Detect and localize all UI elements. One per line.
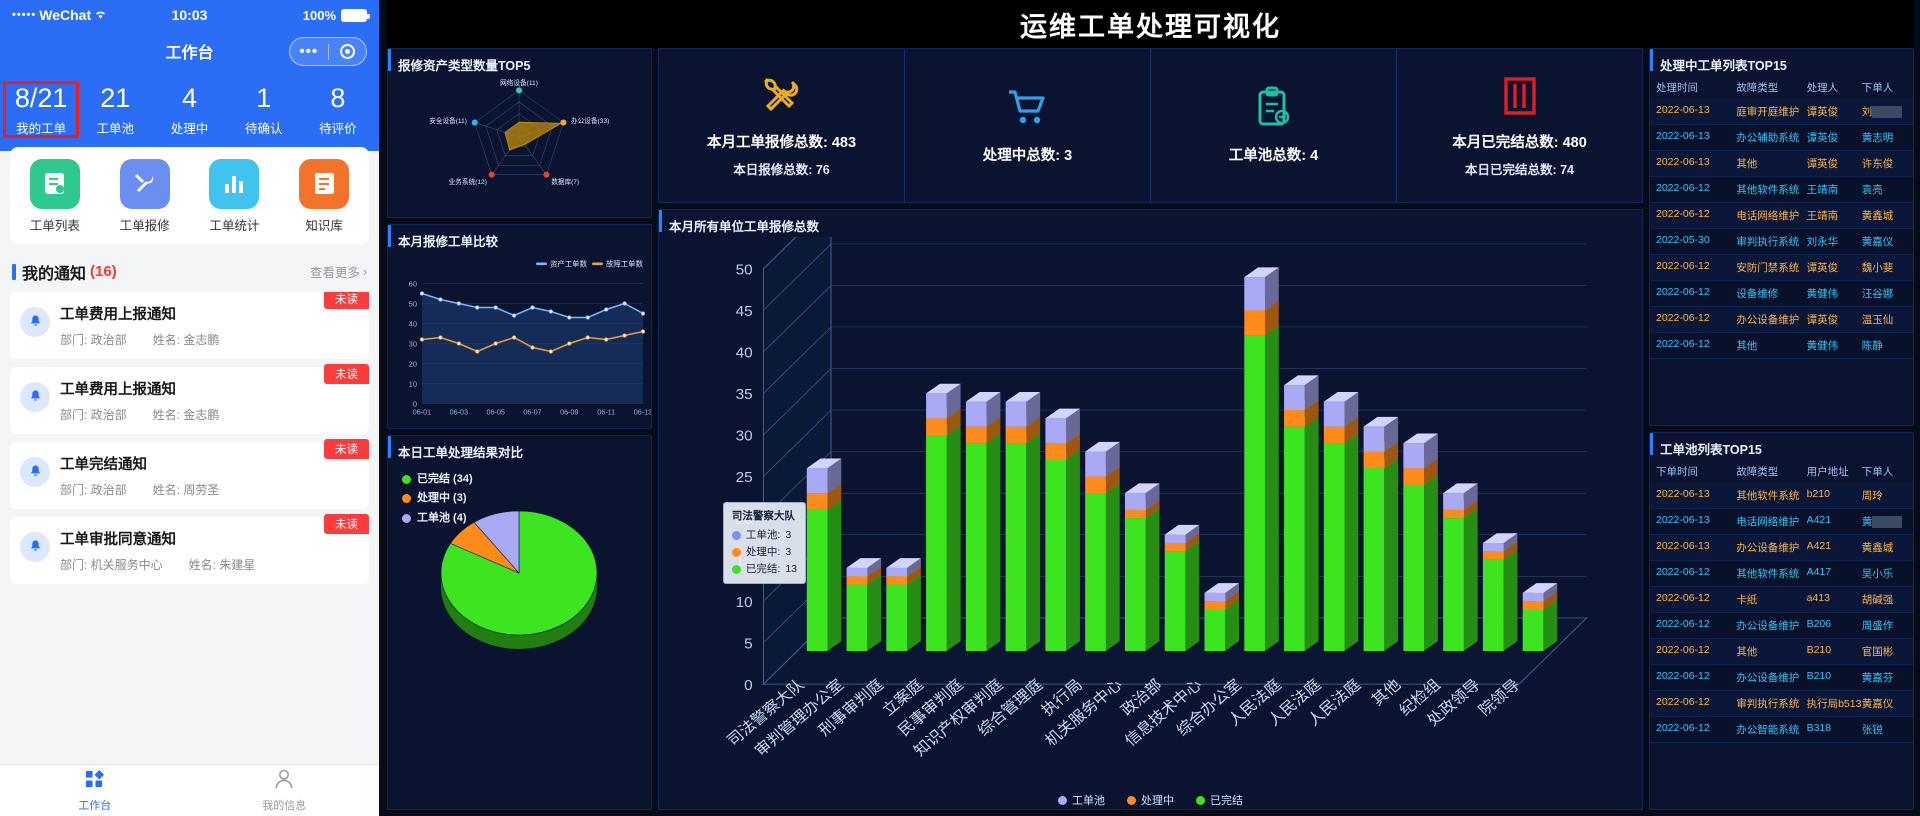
svg-text:06-13: 06-13 [634, 408, 651, 417]
tooltip-row: 已完结:13 [732, 561, 797, 578]
quick-action-3[interactable]: 知识库 [279, 159, 369, 234]
pool-cell: 办公设备维护 [1736, 540, 1806, 555]
processing-cell: 2022-06-12 [1656, 182, 1736, 197]
kpi-card-2: 工单池总数: 4 [1151, 49, 1397, 202]
notice-meta: 部门: 政治部姓名: 周劳圣 [60, 481, 359, 498]
svg-text:20: 20 [409, 360, 417, 369]
table-row[interactable]: 2022-06-12其他黄健伟陈静 [1650, 333, 1913, 359]
wifi-icon [94, 7, 107, 23]
kpi-primary-value: 本月工单报修总数: 483 [707, 131, 856, 152]
notice-item[interactable]: 工单费用上报通知部门: 政治部姓名: 金志鹏未读 [10, 292, 369, 359]
pie-legend-item[interactable]: 处理中 (3) [402, 489, 473, 508]
bell-icon [20, 457, 50, 487]
pool-cell: B318 [1807, 722, 1862, 737]
pool-cell: 2022-06-12 [1656, 670, 1736, 685]
notice-dept: 部门: 政治部 [60, 406, 127, 423]
processing-cell: 谭英俊 [1807, 156, 1862, 171]
pool-column-header: 故障类型 [1736, 464, 1806, 479]
quick-action-label: 工单列表 [30, 215, 80, 234]
table-row[interactable]: 2022-06-13办公设备维护A421黄鑫城 [1650, 535, 1913, 561]
table-row[interactable]: 2022-06-12审判执行系统执行局b513黄嘉仪 [1650, 691, 1913, 717]
kpi-summary-row: 本月工单报修总数: 483本日报修总数: 76处理中总数: 3工单池总数: 4本… [658, 48, 1643, 203]
processing-cell: 安防门禁系统 [1736, 260, 1806, 275]
table-row[interactable]: 2022-06-12办公设备维护谭英俊温玉仙 [1650, 307, 1913, 333]
notice-section-title: 我的通知 [22, 260, 86, 284]
notice-item[interactable]: 工单费用上报通知部门: 政治部姓名: 金志鹏未读 [10, 367, 369, 434]
processing-cell: 审判执行系统 [1736, 234, 1806, 249]
legend-swatch [402, 494, 411, 503]
quick-action-1[interactable]: 工单报修 [100, 159, 190, 234]
processing-cell: 庭审开庭维护 [1736, 104, 1806, 119]
bar-chart-legend: 工单池处理中已完结 [659, 788, 1642, 810]
pool-cell: b210 [1807, 488, 1862, 503]
table-row[interactable]: 2022-06-12其他软件系统A417吴小乐 [1650, 561, 1913, 587]
bar-legend-item[interactable]: 工单池 [1058, 792, 1105, 808]
legend-label: 处理中 (3) [417, 489, 467, 508]
pool-table-header: 下单时间故障类型用户地址下单人 [1650, 460, 1913, 483]
processing-cell: 黄鑫城 [1862, 208, 1907, 223]
processing-cell: 谭英俊 [1807, 130, 1862, 145]
processing-orders-table-card: 处理中工单列表TOP15 处理时间故障类型处理人下单人 2022-06-13庭审… [1649, 48, 1914, 426]
carrier-label: WeChat [39, 7, 91, 23]
shopping-cart-icon [1005, 86, 1051, 137]
quick-action-2[interactable]: 工单统计 [190, 159, 280, 234]
pool-column-header: 下单人 [1862, 464, 1907, 479]
bell-icon [20, 382, 50, 412]
stat-value: 1 [227, 82, 301, 116]
processing-column-header: 故障类型 [1736, 80, 1806, 95]
svg-text:06-01: 06-01 [413, 408, 431, 417]
pool-cell: 其他 [1736, 644, 1806, 659]
svg-text:资产工单数: 资产工单数 [550, 260, 588, 269]
stat-value: 21 [78, 82, 152, 116]
pool-cell: 2022-06-12 [1656, 722, 1736, 737]
stat-label: 待确认 [227, 118, 301, 137]
trash-bin-icon [1497, 73, 1543, 124]
notice-meta: 部门: 政治部姓名: 金志鹏 [60, 406, 359, 423]
processing-column-header: 下单人 [1862, 80, 1907, 95]
tooltip-label: 工单池: [746, 527, 780, 544]
pool-cell: 周盛作 [1862, 618, 1907, 633]
notice-text: 工单完结通知部门: 政治部姓名: 周劳圣 [60, 453, 359, 498]
tab-user-person[interactable]: 我的信息 [190, 765, 380, 816]
pie-chart-card: 本日工单处理结果对比 已完结 (34)处理中 (3)工单池 (4) [387, 435, 652, 810]
svg-text:10: 10 [736, 595, 753, 610]
quick-action-label: 知识库 [305, 215, 343, 234]
pool-cell: a413 [1807, 592, 1862, 607]
kpi-secondary-value: 本日已完结总数: 74 [1465, 159, 1574, 178]
pool-cell: 2022-06-13 [1656, 514, 1736, 529]
legend-swatch [1196, 796, 1205, 805]
processing-cell: 黄志明 [1862, 130, 1907, 145]
view-more-link[interactable]: 查看更多 › [310, 262, 367, 281]
pool-cell: A417 [1807, 566, 1862, 581]
table-row[interactable]: 2022-06-13办公辅助系统谭英俊黄志明 [1650, 125, 1913, 151]
svg-text:5: 5 [744, 637, 753, 652]
processing-cell: 其他 [1736, 156, 1806, 171]
table-row[interactable]: 2022-06-12其他软件系统王靖南袁亮 [1650, 177, 1913, 203]
table-row[interactable]: 2022-06-12办公设备维护B206周盛作 [1650, 613, 1913, 639]
radar-chart-svg: 网络设备(11)办公设备(33)数据库(7)业务系统(12)安全设备(11) [388, 76, 651, 206]
svg-text:30: 30 [736, 429, 753, 444]
processing-cell: 袁亮 [1862, 182, 1907, 197]
bell-icon [20, 532, 50, 562]
pool-cell: 胡碱强 [1862, 592, 1907, 607]
svg-text:50: 50 [736, 263, 753, 278]
svg-text:50: 50 [409, 300, 417, 309]
wechat-capsule-menu[interactable]: ••• [289, 37, 367, 66]
bar-chart-card: 本月所有单位工单报修总数 05101520253035404550司法警察大队审… [658, 209, 1643, 810]
status-bar-right: 100% [207, 8, 367, 23]
table-row[interactable]: 2022-05-30审判执行系统刘永华黄嘉仪 [1650, 229, 1913, 255]
stat-3[interactable]: 1待确认 [227, 82, 301, 137]
processing-cell: 2022-05-30 [1656, 234, 1736, 249]
status-bar-left: ••••• WeChat [12, 7, 172, 23]
tab-label: 工作台 [78, 797, 111, 813]
redacted-text: ████ [1872, 516, 1902, 528]
svg-text:06-03: 06-03 [450, 408, 468, 417]
processing-cell: 谭英俊 [1807, 260, 1862, 275]
pool-cell: 2022-06-12 [1656, 592, 1736, 607]
processing-cell: 2022-06-13 [1656, 104, 1736, 119]
processing-cell: 王靖南 [1807, 182, 1862, 197]
notice-title: 工单完结通知 [60, 453, 359, 474]
pool-cell: 黄████ [1862, 514, 1907, 529]
pool-cell: 官国彬 [1862, 644, 1907, 659]
pool-cell: 2022-06-12 [1656, 618, 1736, 633]
pool-cell: 2022-06-12 [1656, 566, 1736, 581]
legend-swatch [1058, 796, 1067, 805]
legend-label: 工单池 (4) [417, 509, 467, 528]
app-root: ••••• WeChat 10:03 100% 工作台 ••• 8/21我的工单… [0, 0, 1920, 816]
pool-orders-table-card: 工单池列表TOP15 下单时间故障类型用户地址下单人 2022-06-13其他软… [1649, 432, 1914, 810]
tooltip-value: 3 [785, 527, 791, 544]
notice-count-badge: (16) [90, 263, 117, 280]
svg-text:10: 10 [409, 380, 417, 389]
svg-text:数据库(7): 数据库(7) [551, 177, 579, 186]
stat-0[interactable]: 8/21我的工单 [4, 82, 78, 137]
svg-text:25: 25 [736, 471, 753, 486]
dashboard-center-column: 本月工单报修总数: 483本日报修总数: 76处理中总数: 3工单池总数: 4本… [658, 48, 1643, 810]
radar-chart-title: 报修资产类型数量TOP5 [388, 49, 651, 76]
stat-value: 8 [301, 82, 375, 116]
table-row[interactable]: 2022-06-13其他谭英俊许东俊 [1650, 151, 1913, 177]
pool-cell: 审判执行系统 [1736, 696, 1806, 711]
processing-cell: 许东俊 [1862, 156, 1907, 171]
svg-text:业务系统(12): 业务系统(12) [449, 177, 487, 186]
bar-chart-svg: 05101520253035404550司法警察大队审判管理办公室刑事审判庭立案… [659, 237, 1642, 810]
dashboard-body: 报修资产类型数量TOP5 网络设备(11)办公设备(33)数据库(7)业务系统(… [387, 48, 1914, 810]
document-list-icon [30, 159, 80, 209]
wrench-tools-icon [759, 73, 805, 124]
pool-cell: 办公设备维护 [1736, 618, 1806, 633]
notice-title: 工单费用上报通知 [60, 303, 359, 324]
svg-text:06-09: 06-09 [560, 408, 578, 417]
unread-badge: 未读 [324, 514, 369, 534]
stat-value: 4 [152, 82, 226, 116]
svg-text:45: 45 [736, 304, 753, 319]
notice-text: 工单费用上报通知部门: 政治部姓名: 金志鹏 [60, 303, 359, 348]
legend-swatch [1127, 796, 1136, 805]
svg-text:0: 0 [744, 678, 753, 693]
processing-cell: 黄健伟 [1807, 338, 1862, 353]
unread-badge: 未读 [324, 439, 369, 459]
tab-label: 我的信息 [262, 797, 306, 813]
pool-cell: 黄鑫城 [1862, 540, 1907, 555]
quick-action-0[interactable]: 工单列表 [10, 159, 100, 234]
pool-cell: 张锐 [1862, 722, 1907, 737]
kpi-primary-value: 本月已完结总数: 480 [1452, 131, 1587, 152]
pool-table-title: 工单池列表TOP15 [1650, 433, 1913, 460]
phone-status-bar: ••••• WeChat 10:03 100% [0, 0, 379, 30]
table-row[interactable]: 2022-06-12其他B210官国彬 [1650, 639, 1913, 665]
unread-badge: 未读 [324, 364, 369, 384]
table-row[interactable]: 2022-06-13其他软件系统b210周玲 [1650, 483, 1913, 509]
bar-chart-icon [209, 159, 259, 209]
pool-cell: 执行局b513 [1807, 696, 1862, 711]
pool-column-header: 用户地址 [1807, 464, 1862, 479]
pool-cell: B210 [1807, 670, 1862, 685]
svg-text:安全设备(11): 安全设备(11) [429, 116, 467, 125]
bar-legend-item[interactable]: 已完结 [1196, 792, 1243, 808]
processing-cell: 电话网络维护 [1736, 208, 1806, 223]
pie-chart-title: 本日工单处理结果对比 [388, 436, 651, 463]
tooltip-label: 处理中: [746, 544, 780, 561]
processing-cell: 王靖南 [1807, 208, 1862, 223]
status-bar-time: 10:03 [172, 7, 208, 23]
pool-cell: 2022-06-13 [1656, 540, 1736, 555]
tab-grid-blocks[interactable]: 工作台 [0, 765, 190, 816]
user-person-icon [274, 769, 295, 795]
kpi-primary-value: 工单池总数: 4 [1229, 144, 1318, 165]
kpi-card-1: 处理中总数: 3 [905, 49, 1151, 202]
legend-label: 处理中 [1141, 792, 1174, 808]
tooltip-label: 已完结: [746, 561, 780, 578]
phone-tab-bar[interactable]: 工作台我的信息 [0, 764, 379, 816]
line-chart-card: 本月报修工单比较 010203040506006-0106-0306-0506-… [387, 224, 652, 429]
notice-name: 姓名: 周劳圣 [153, 481, 220, 498]
svg-text:06-05: 06-05 [486, 408, 504, 417]
notice-dept: 部门: 政治部 [60, 331, 127, 348]
legend-swatch [402, 475, 411, 484]
processing-cell: 刘████ [1862, 104, 1907, 119]
pool-cell: 吴小乐 [1862, 566, 1907, 581]
tooltip-swatch [732, 565, 741, 574]
stat-4[interactable]: 8待评价 [301, 82, 375, 137]
bar-legend-item[interactable]: 处理中 [1127, 792, 1174, 808]
processing-cell: 谭英俊 [1807, 104, 1862, 119]
svg-text:40: 40 [736, 346, 753, 361]
processing-cell: 其他软件系统 [1736, 182, 1806, 197]
pool-cell: 其他软件系统 [1736, 566, 1806, 581]
notice-item[interactable]: 工单完结通知部门: 政治部姓名: 周劳圣未读 [10, 442, 369, 509]
pie-chart-legend: 已完结 (34)处理中 (3)工单池 (4) [402, 470, 473, 528]
notice-list[interactable]: 工单费用上报通知部门: 政治部姓名: 金志鹏未读工单费用上报通知部门: 政治部姓… [0, 292, 379, 764]
tooltip-swatch [732, 548, 741, 557]
line-chart-svg: 010203040506006-0106-0306-0506-0706-0906… [388, 252, 651, 429]
svg-text:40: 40 [409, 320, 417, 329]
processing-cell: 2022-06-13 [1656, 130, 1736, 145]
tools-wrench-icon [120, 159, 170, 209]
pie-legend-item[interactable]: 已完结 (34) [402, 470, 473, 489]
table-row[interactable]: 2022-06-12设备维修黄健伟汪谷娜 [1650, 281, 1913, 307]
section-accent-bar [12, 264, 16, 280]
table-row[interactable]: 2022-06-12办公设备维护B210黄嘉芬 [1650, 665, 1913, 691]
svg-text:06-07: 06-07 [523, 408, 541, 417]
processing-cell: 办公设备维护 [1736, 312, 1806, 327]
pool-cell: 2022-06-12 [1656, 696, 1736, 711]
signal-dots-icon: ••••• [12, 9, 36, 21]
processing-table-header: 处理时间故障类型处理人下单人 [1650, 76, 1913, 99]
redacted-text: ████ [1872, 106, 1902, 118]
pool-cell: 周玲 [1862, 488, 1907, 503]
notice-text: 工单费用上报通知部门: 政治部姓名: 金志鹏 [60, 378, 359, 423]
target-circle-icon[interactable] [329, 44, 367, 59]
processing-cell: 陈静 [1862, 338, 1907, 353]
battery-percent-label: 100% [303, 8, 336, 23]
dashboard-right-column: 处理中工单列表TOP15 处理时间故障类型处理人下单人 2022-06-13庭审… [1649, 48, 1914, 810]
pool-cell: B210 [1807, 644, 1862, 659]
pool-cell: 其他软件系统 [1736, 488, 1806, 503]
stat-label: 我的工单 [4, 118, 78, 137]
clipboard-check-icon [1251, 86, 1297, 137]
tooltip-value: 3 [785, 544, 791, 561]
pie-legend-item[interactable]: 工单池 (4) [402, 509, 473, 528]
processing-cell: 魏小斐 [1862, 260, 1907, 275]
stat-label: 处理中 [152, 118, 226, 137]
view-more-label: 查看更多 [310, 262, 360, 281]
quick-action-label: 工单报修 [120, 215, 170, 234]
svg-text:06-11: 06-11 [597, 408, 615, 417]
pool-cell: 黄嘉仪 [1862, 696, 1907, 711]
kpi-primary-value: 处理中总数: 3 [983, 144, 1072, 165]
unread-badge: 未读 [324, 292, 369, 309]
notice-title: 工单审批同意通知 [60, 528, 359, 549]
book-icon [299, 159, 349, 209]
bar-chart-tooltip: 司法警察大队工单池:3处理中:3已完结:13 [723, 502, 806, 583]
radar-chart-card: 报修资产类型数量TOP5 网络设备(11)办公设备(33)数据库(7)业务系统(… [387, 48, 652, 218]
workbench-stats-strip: 8/21我的工单21工单池4处理中1待确认8待评价 [0, 72, 379, 151]
grid-blocks-icon [84, 769, 105, 795]
more-dots-icon[interactable]: ••• [290, 44, 328, 59]
notice-title: 工单费用上报通知 [60, 378, 359, 399]
processing-cell: 刘永华 [1807, 234, 1862, 249]
pool-cell: A421 [1807, 540, 1862, 555]
tooltip-swatch [732, 531, 741, 540]
processing-cell: 2022-06-13 [1656, 156, 1736, 171]
pool-cell: 电话网络维护 [1736, 514, 1806, 529]
tooltip-title: 司法警察大队 [732, 508, 797, 525]
quick-action-label: 工单统计 [209, 215, 259, 234]
notice-item[interactable]: 工单审批同意通知部门: 机关服务中心姓名: 朱建星未读 [10, 517, 369, 584]
dashboard-title: 运维工单处理可视化 [387, 0, 1914, 48]
notice-meta: 部门: 机关服务中心姓名: 朱建星 [60, 556, 359, 573]
notice-name: 姓名: 金志鹏 [153, 406, 220, 423]
legend-label: 工单池 [1072, 792, 1105, 808]
chevron-right-icon: › [363, 265, 367, 279]
stat-label: 工单池 [78, 118, 152, 137]
dashboard-left-column: 报修资产类型数量TOP5 网络设备(11)办公设备(33)数据库(7)业务系统(… [387, 48, 652, 810]
pool-column-header: 下单时间 [1656, 464, 1736, 479]
processing-column-header: 处理人 [1807, 80, 1862, 95]
processing-cell: 谭英俊 [1807, 312, 1862, 327]
pool-cell: 黄嘉芬 [1862, 670, 1907, 685]
notice-dept: 部门: 机关服务中心 [60, 556, 163, 573]
pool-cell: 2022-06-12 [1656, 644, 1736, 659]
battery-icon [341, 9, 367, 22]
bell-icon [20, 307, 50, 337]
table-row[interactable]: 2022-06-13电话网络维护A421黄████ [1650, 509, 1913, 535]
svg-text:故障工单数: 故障工单数 [606, 260, 644, 269]
phone-nav-bar: 工作台 ••• [0, 30, 379, 72]
pool-table-body[interactable]: 2022-06-13其他软件系统b210周玲2022-06-13电话网络维护A4… [1650, 483, 1913, 809]
processing-cell: 设备维修 [1736, 286, 1806, 301]
table-row[interactable]: 2022-06-13庭审开庭维护谭英俊刘████ [1650, 99, 1913, 125]
page-title: 工作台 [165, 39, 213, 63]
processing-table-body[interactable]: 2022-06-13庭审开庭维护谭英俊刘████2022-06-13办公辅助系统… [1650, 99, 1913, 425]
legend-label: 已完结 [1210, 792, 1243, 808]
stat-label: 待评价 [301, 118, 375, 137]
mobile-preview-panel: ••••• WeChat 10:03 100% 工作台 ••• 8/21我的工单… [0, 0, 381, 816]
svg-text:网络设备(11): 网络设备(11) [500, 78, 538, 87]
pool-cell: B206 [1807, 618, 1862, 633]
processing-column-header: 处理时间 [1656, 80, 1736, 95]
table-row[interactable]: 2022-06-12电话网络维护王靖南黄鑫城 [1650, 203, 1913, 229]
kpi-card-3: 本月已完结总数: 480本日已完结总数: 74 [1397, 49, 1642, 202]
legend-label: 已完结 (34) [417, 470, 473, 489]
pool-cell: A421 [1807, 514, 1862, 529]
pool-cell: 办公智能系统 [1736, 722, 1806, 737]
tooltip-row: 工单池:3 [732, 527, 797, 544]
table-row[interactable]: 2022-06-12办公智能系统B318张锐 [1650, 717, 1913, 743]
table-row[interactable]: 2022-06-12安防门禁系统谭英俊魏小斐 [1650, 255, 1913, 281]
pool-cell: 办公设备维护 [1736, 670, 1806, 685]
tooltip-row: 处理中:3 [732, 544, 797, 561]
pool-cell: 2022-06-13 [1656, 488, 1736, 503]
pool-cell: 卡纸 [1736, 592, 1806, 607]
svg-text:30: 30 [409, 340, 417, 349]
processing-cell: 其他 [1736, 338, 1806, 353]
table-row[interactable]: 2022-06-12卡纸a413胡碱强 [1650, 587, 1913, 613]
svg-text:60: 60 [409, 280, 417, 289]
notice-name: 姓名: 金志鹏 [153, 331, 220, 348]
notice-text: 工单审批同意通知部门: 机关服务中心姓名: 朱建星 [60, 528, 359, 573]
processing-cell: 2022-06-12 [1656, 208, 1736, 223]
notice-name: 姓名: 朱建星 [189, 556, 256, 573]
stat-2[interactable]: 4处理中 [152, 82, 226, 137]
stat-1[interactable]: 21工单池 [78, 82, 152, 137]
processing-cell: 黄健伟 [1807, 286, 1862, 301]
notice-section-header: 我的通知 (16) 查看更多 › [0, 244, 379, 292]
processing-cell: 汪谷娜 [1862, 286, 1907, 301]
processing-cell: 黄嘉仪 [1862, 234, 1907, 249]
processing-cell: 2022-06-12 [1656, 286, 1736, 301]
svg-text:35: 35 [736, 388, 753, 403]
kpi-card-0: 本月工单报修总数: 483本日报修总数: 76 [659, 49, 905, 202]
notice-meta: 部门: 政治部姓名: 金志鹏 [60, 331, 359, 348]
tooltip-value: 13 [785, 561, 797, 578]
line-chart-title: 本月报修工单比较 [388, 225, 651, 252]
processing-cell: 办公辅助系统 [1736, 130, 1806, 145]
processing-cell: 2022-06-12 [1656, 260, 1736, 275]
stat-value: 8/21 [4, 82, 78, 116]
kpi-secondary-value: 本日报修总数: 76 [733, 159, 830, 178]
processing-table-title: 处理中工单列表TOP15 [1650, 49, 1913, 76]
processing-cell: 2022-06-12 [1656, 338, 1736, 353]
legend-swatch [402, 514, 411, 523]
notice-dept: 部门: 政治部 [60, 481, 127, 498]
processing-cell: 2022-06-12 [1656, 312, 1736, 327]
